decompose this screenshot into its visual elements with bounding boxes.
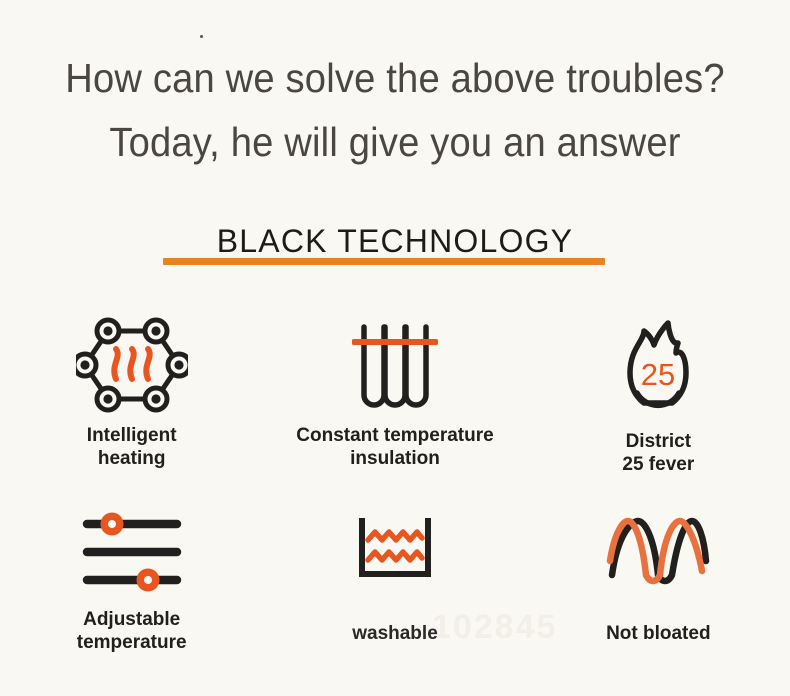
feature-not-bloated: Not bloated bbox=[527, 496, 790, 692]
feature-label: Adjustable temperature bbox=[77, 608, 187, 654]
radiator-coil-icon bbox=[352, 306, 438, 424]
flame-value: 25 bbox=[641, 357, 675, 392]
dust-speck bbox=[200, 35, 203, 38]
headline-line-2: Today, he will give you an answer bbox=[28, 110, 763, 174]
feature-adjustable-temperature: Adjustable temperature bbox=[0, 496, 263, 692]
page-title: How can we solve the above troubles? Tod… bbox=[28, 46, 763, 174]
interwoven-waves-icon bbox=[606, 496, 710, 608]
feature-row-2: Adjustable temperature washable bbox=[0, 496, 790, 692]
feature-label: District 25 fever bbox=[622, 430, 694, 476]
feature-washable: washable bbox=[263, 496, 526, 692]
banner-title: BLACK TECHNOLOGY bbox=[217, 222, 573, 260]
feature-label: washable bbox=[352, 622, 438, 645]
hexagon-heat-icon bbox=[76, 306, 188, 424]
feature-panel: How can we solve the above troubles? Tod… bbox=[0, 0, 790, 696]
feature-label: Not bloated bbox=[606, 622, 711, 645]
banner: BLACK TECHNOLOGY bbox=[0, 222, 790, 260]
feature-constant-temperature: Constant temperature insulation bbox=[263, 306, 526, 496]
headline-line-1: How can we solve the above troubles? bbox=[28, 46, 763, 110]
feature-district-25-fever: 25 District 25 fever bbox=[527, 306, 790, 496]
feature-grid: Intelligent heating Constant temperature… bbox=[0, 306, 790, 692]
flame-25-icon: 25 bbox=[610, 306, 706, 424]
feature-row-1: Intelligent heating Constant temperature… bbox=[0, 306, 790, 496]
feature-label: Intelligent heating bbox=[87, 424, 177, 470]
feature-label: Constant temperature insulation bbox=[296, 424, 493, 470]
slider-controls-icon bbox=[79, 496, 185, 608]
feature-intelligent-heating: Intelligent heating bbox=[0, 306, 263, 496]
wash-basin-icon bbox=[350, 496, 440, 608]
